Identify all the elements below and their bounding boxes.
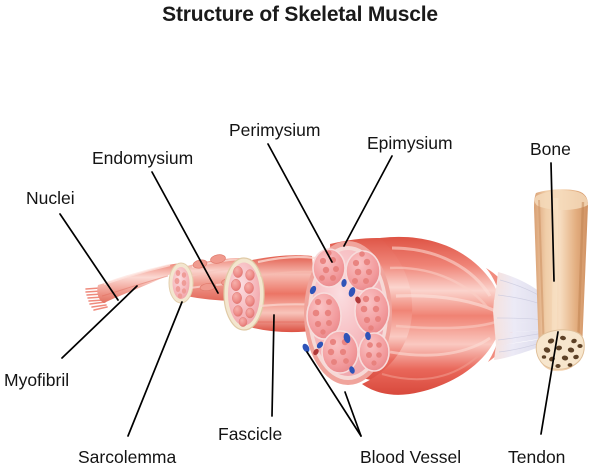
leader-epimysium [344,156,392,246]
label-endomysium: Endomysium [92,148,193,168]
label-fascicle: Fascicle [218,424,282,444]
leader-perimysium [268,144,332,262]
label-tendon: Tendon [508,447,565,467]
leader-sarcolemma [128,302,182,436]
label-perimysium: Perimysium [229,120,320,140]
leader-nuclei [60,214,118,300]
label-myofibril: Myofibril [4,370,69,390]
skeletal-muscle-diagram: Structure of Skeletal Muscle [0,0,600,469]
label-bone: Bone [530,139,571,159]
muscle-illustration [0,0,600,469]
bone-structure [534,189,588,371]
label-blood-vessel: Blood Vessel [360,447,461,467]
label-nuclei: Nuclei [26,188,75,208]
label-sarcolemma: Sarcolemma [78,447,176,467]
label-epimysium: Epimysium [367,133,453,153]
myofibril-structure [86,264,182,310]
